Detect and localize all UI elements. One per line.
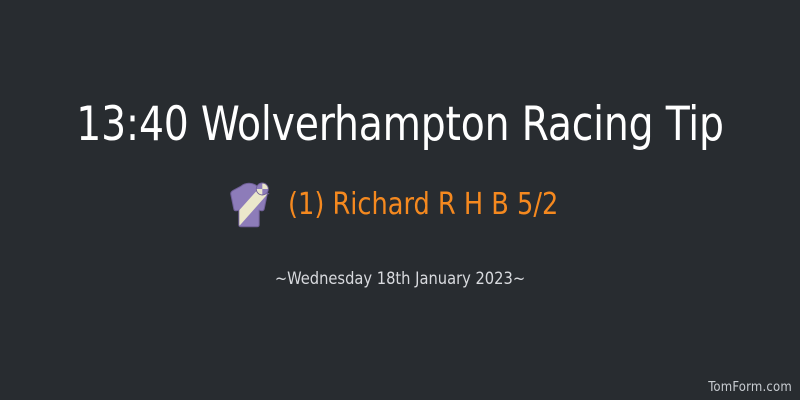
page-title: 13:40 Wolverhampton Racing Tip [28, 96, 772, 154]
jockey-silk-svg [228, 182, 270, 228]
race-date: ~Wednesday 18th January 2023~ [16, 268, 784, 290]
jockey-silk-icon [228, 182, 270, 228]
tip-selection-text: (1) Richard R H B 5/2 [288, 188, 558, 222]
site-watermark: TomForm.com [708, 380, 792, 396]
selection-row: (1) Richard R H B 5/2 [0, 181, 800, 229]
racing-tip-card: 13:40 Wolverhampton Racing Tip [0, 0, 800, 400]
jockey-cap [256, 183, 269, 195]
